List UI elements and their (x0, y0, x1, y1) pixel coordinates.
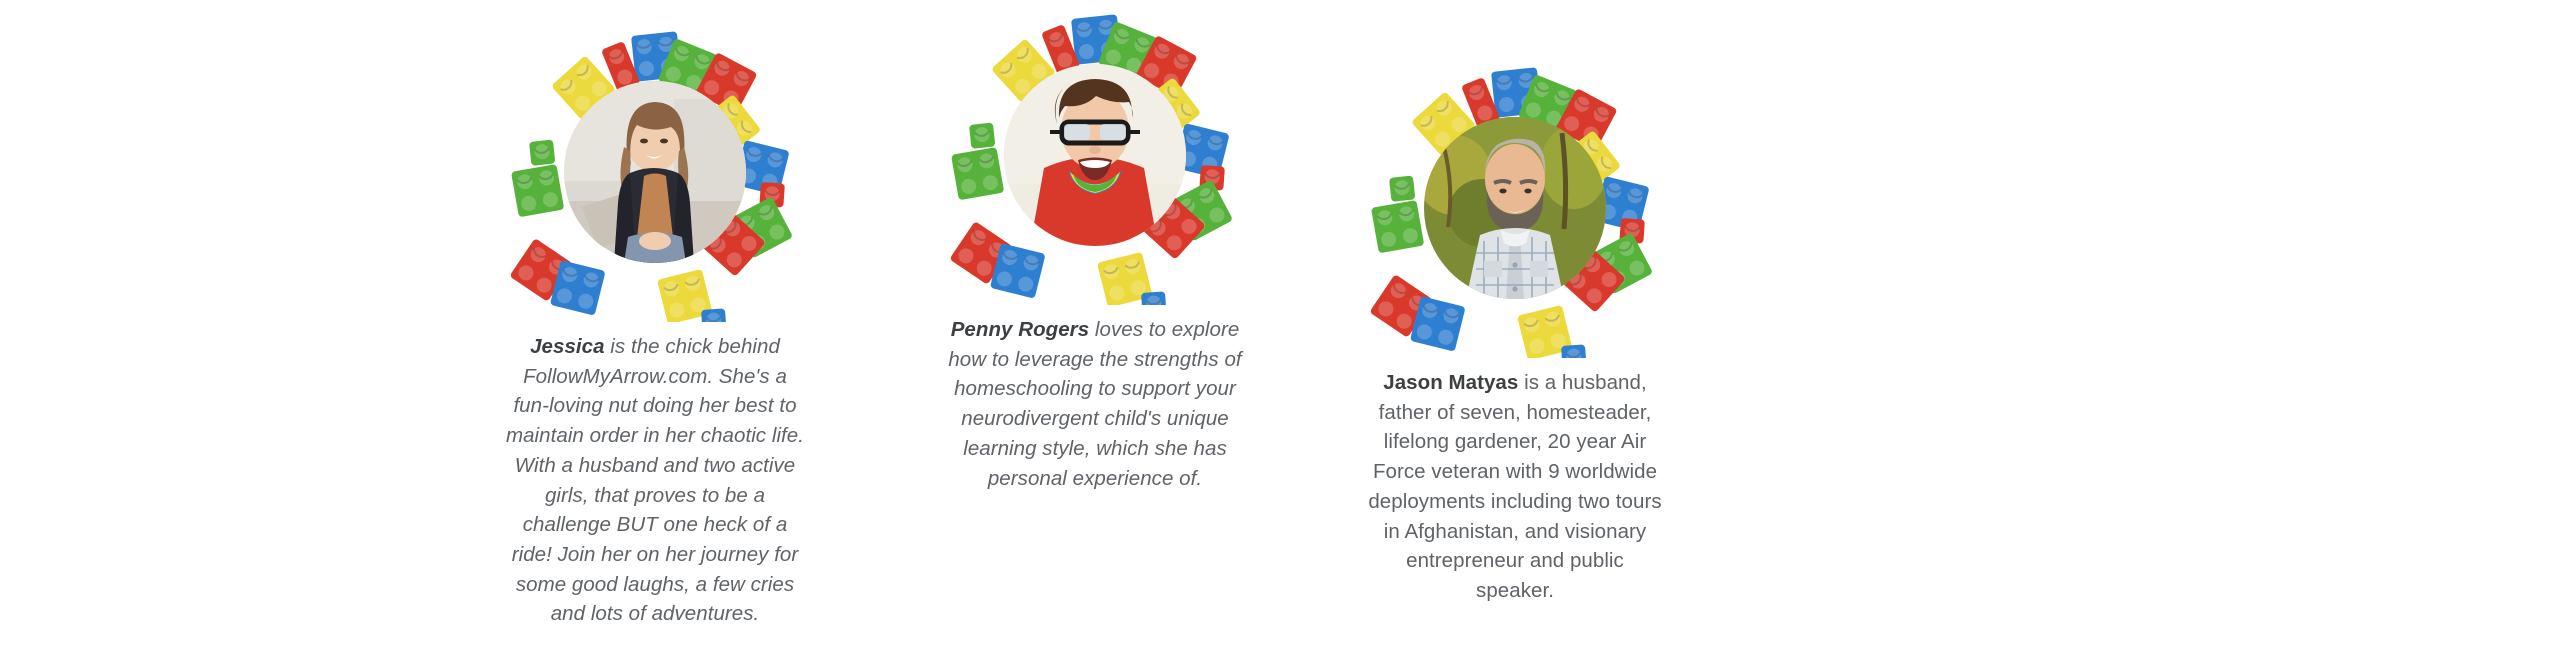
bio-name: Jessica (530, 335, 604, 358)
photo-penny-rogers (1004, 64, 1186, 246)
avatar-jason-matyas (1365, 58, 1665, 358)
avatar-penny-rogers (945, 5, 1245, 305)
bio-text: Jason Matyas is a husband, father of sev… (1365, 368, 1665, 606)
bio-body: loves to explore how to leverage the str… (948, 318, 1241, 490)
bio-body: is a husband, father of seven, homestead… (1368, 371, 1661, 602)
photo-jessica (564, 81, 746, 263)
bio-name: Jason Matyas (1383, 371, 1518, 394)
photo-jason-matyas (1424, 117, 1606, 299)
bio-body: is the chick behind FollowMyArrow.com. S… (506, 335, 804, 625)
bio-name: Penny Rogers (951, 318, 1089, 341)
bio-card-jason-matyas: Jason Matyas is a husband, father of sev… (1295, 58, 1735, 606)
bio-text: Penny Rogers loves to explore how to lev… (945, 315, 1245, 493)
bio-row: Jessica is the chick behind FollowMyArro… (0, 0, 2560, 668)
bio-card-penny-rogers: Penny Rogers loves to explore how to lev… (875, 5, 1315, 493)
avatar-jessica (505, 22, 805, 322)
bio-card-jessica: Jessica is the chick behind FollowMyArro… (435, 22, 875, 629)
bio-text: Jessica is the chick behind FollowMyArro… (505, 332, 805, 629)
